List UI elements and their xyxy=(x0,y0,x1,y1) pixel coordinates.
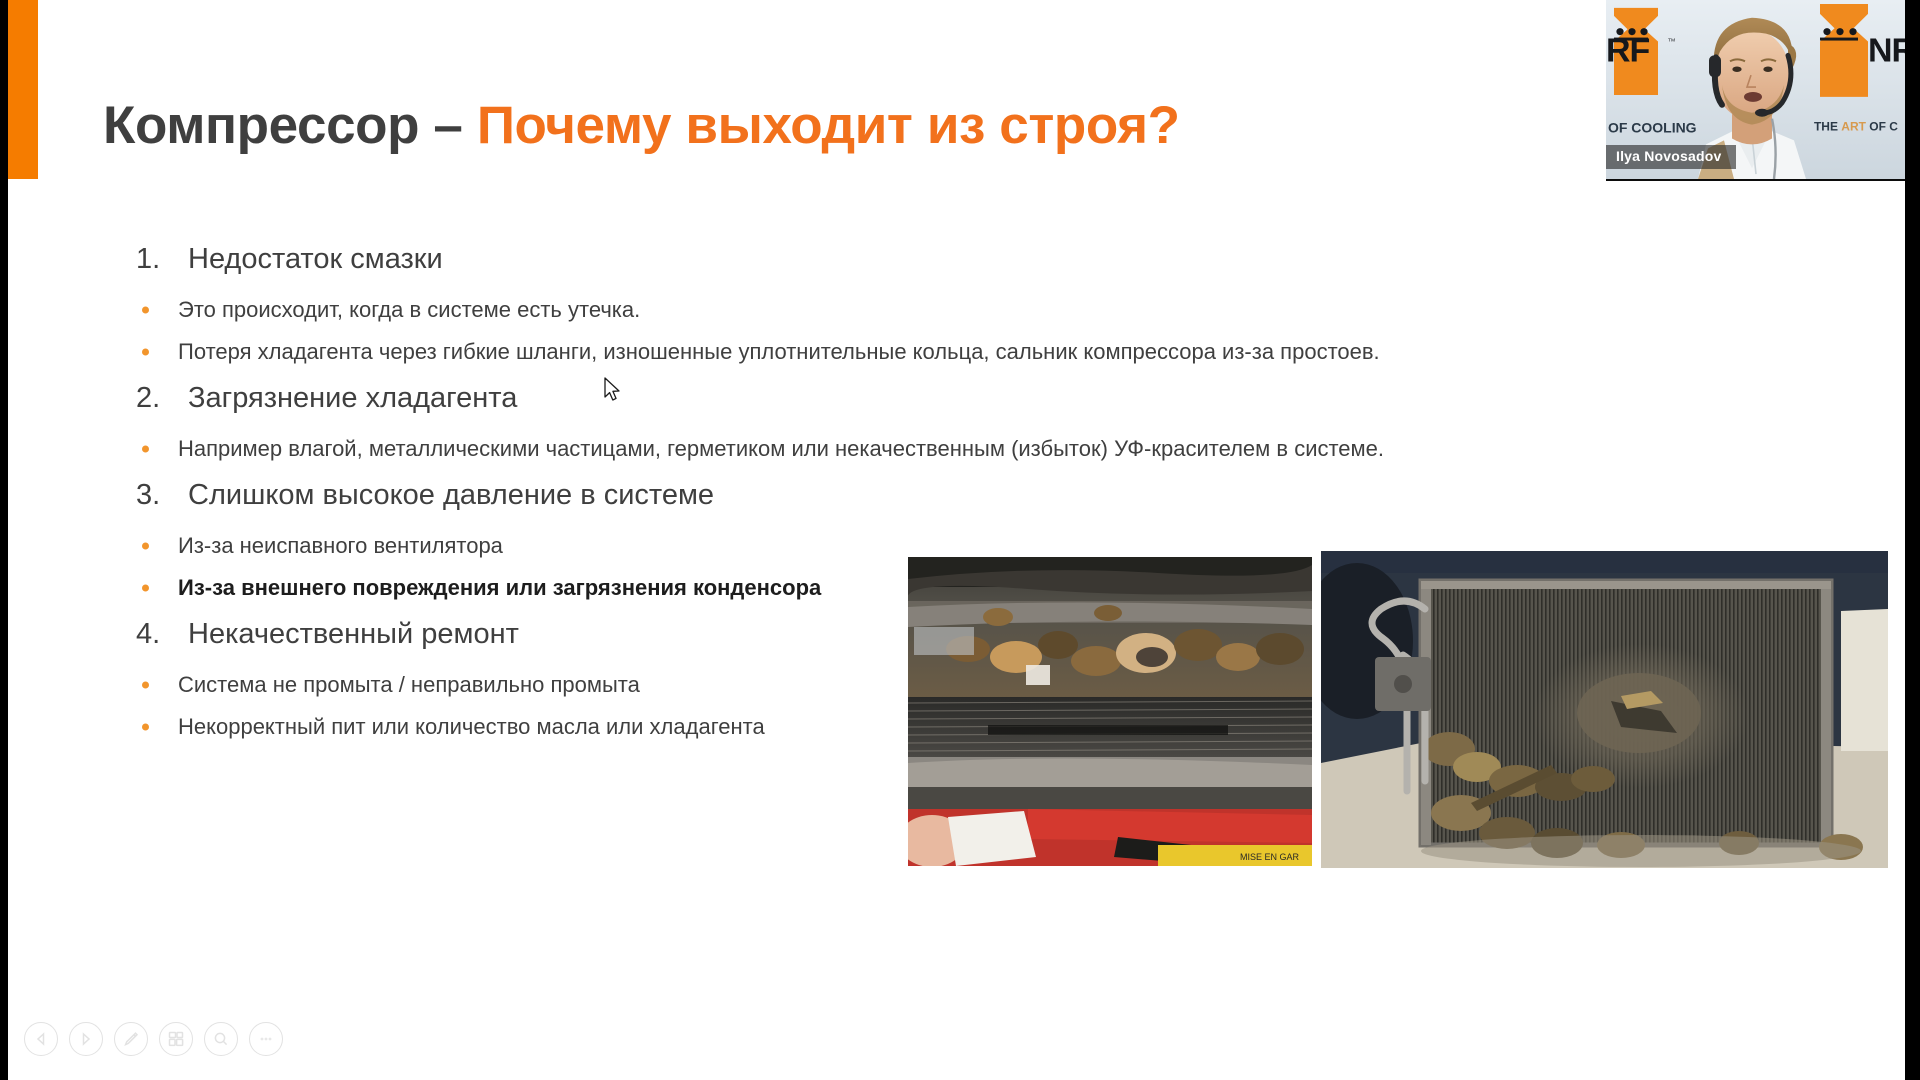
list-item-bullet: Например влагой, металлическими частицам… xyxy=(8,428,1668,470)
bullet-dot-icon xyxy=(142,585,149,592)
svg-text:TM: TM xyxy=(1668,38,1675,44)
svg-text:OF COOLING: OF COOLING xyxy=(1608,120,1697,136)
title-part-dark: Компрессор – xyxy=(103,96,477,155)
list-heading-label: Некачественный ремонт xyxy=(188,611,519,658)
svg-text:MISE EN GAR: MISE EN GAR xyxy=(1240,852,1300,862)
zoom-button[interactable] xyxy=(204,1022,238,1056)
bullet-label: Система не промыта / неправильно промыта xyxy=(178,672,640,697)
previous-slide-icon xyxy=(32,1030,50,1048)
more-options-icon xyxy=(257,1030,275,1048)
next-slide-icon xyxy=(77,1030,95,1048)
bullet-dot-icon xyxy=(142,446,149,453)
list-item-heading: 1. Недостаток смазки xyxy=(8,236,1668,283)
pen-button[interactable] xyxy=(114,1022,148,1056)
slide-canvas[interactable]: Компрессор – Почему выходит из строя? 1.… xyxy=(8,0,1905,1080)
next-slide-button[interactable] xyxy=(69,1022,103,1056)
title-part-accent: Почему выходит из строя? xyxy=(477,96,1180,155)
bullet-label: Из-за внешнего повреждения или загрязнен… xyxy=(178,575,821,600)
svg-text:NR: NR xyxy=(1868,31,1905,69)
right-frame-edge xyxy=(1905,0,1920,1080)
bullet-dot-icon xyxy=(142,349,149,356)
accent-bar xyxy=(8,0,38,179)
bullet-label: Из-за неиспавного вентилятора xyxy=(178,533,503,558)
list-number: 3. xyxy=(136,472,188,519)
list-item-bullet: Это происходит, когда в системе есть уте… xyxy=(8,289,1668,331)
bullet-label: Например влагой, металлическими частицам… xyxy=(178,436,1384,461)
svg-text:THE ART OF C: THE ART OF C xyxy=(1814,120,1898,134)
list-item-heading: 2. Загрязнение хладагента xyxy=(8,375,1668,422)
pen-icon xyxy=(122,1030,140,1048)
list-heading-label: Недостаток смазки xyxy=(188,236,443,283)
presenter-video-panel[interactable]: RF TM NR OF COOLING xyxy=(1606,0,1905,181)
slideshow-stage: Компрессор – Почему выходит из строя? 1.… xyxy=(0,0,1920,1080)
bullet-dot-icon xyxy=(142,543,149,550)
zoom-icon xyxy=(212,1030,230,1048)
bullet-label: Потеря хладагента через гибкие шланги, и… xyxy=(178,339,1380,364)
list-number: 2. xyxy=(136,375,188,422)
list-item-heading: 3. Слишком высокое давление в системе xyxy=(8,472,1668,519)
page-title: Компрессор – Почему выходит из строя? xyxy=(103,97,1180,154)
bullet-dot-icon xyxy=(142,307,149,314)
slide-grid-icon xyxy=(167,1030,185,1048)
presenter-toolbar[interactable] xyxy=(16,1022,283,1056)
photo-clogged-condenser-in-car: MISE EN GAR xyxy=(908,557,1312,866)
photo-dirty-condenser-removed xyxy=(1321,551,1888,868)
bullet-label: Это происходит, когда в системе есть уте… xyxy=(178,297,640,322)
previous-slide-button[interactable] xyxy=(24,1022,58,1056)
list-number: 4. xyxy=(136,611,188,658)
list-item-bullet: Потеря хладагента через гибкие шланги, и… xyxy=(8,331,1668,373)
list-heading-label: Загрязнение хладагента xyxy=(188,375,517,422)
bullet-dot-icon xyxy=(142,682,149,689)
svg-text:RF: RF xyxy=(1606,31,1650,69)
more-options-button[interactable] xyxy=(249,1022,283,1056)
left-frame-edge xyxy=(0,0,8,1080)
presenter-name-label: Ilya Novosadov xyxy=(1606,145,1736,170)
bullet-label: Некорректный пит или количество масла ил… xyxy=(178,714,765,739)
slide-grid-button[interactable] xyxy=(159,1022,193,1056)
bullet-dot-icon xyxy=(142,724,149,731)
list-number: 1. xyxy=(136,236,188,283)
list-heading-label: Слишком высокое давление в системе xyxy=(188,472,714,519)
